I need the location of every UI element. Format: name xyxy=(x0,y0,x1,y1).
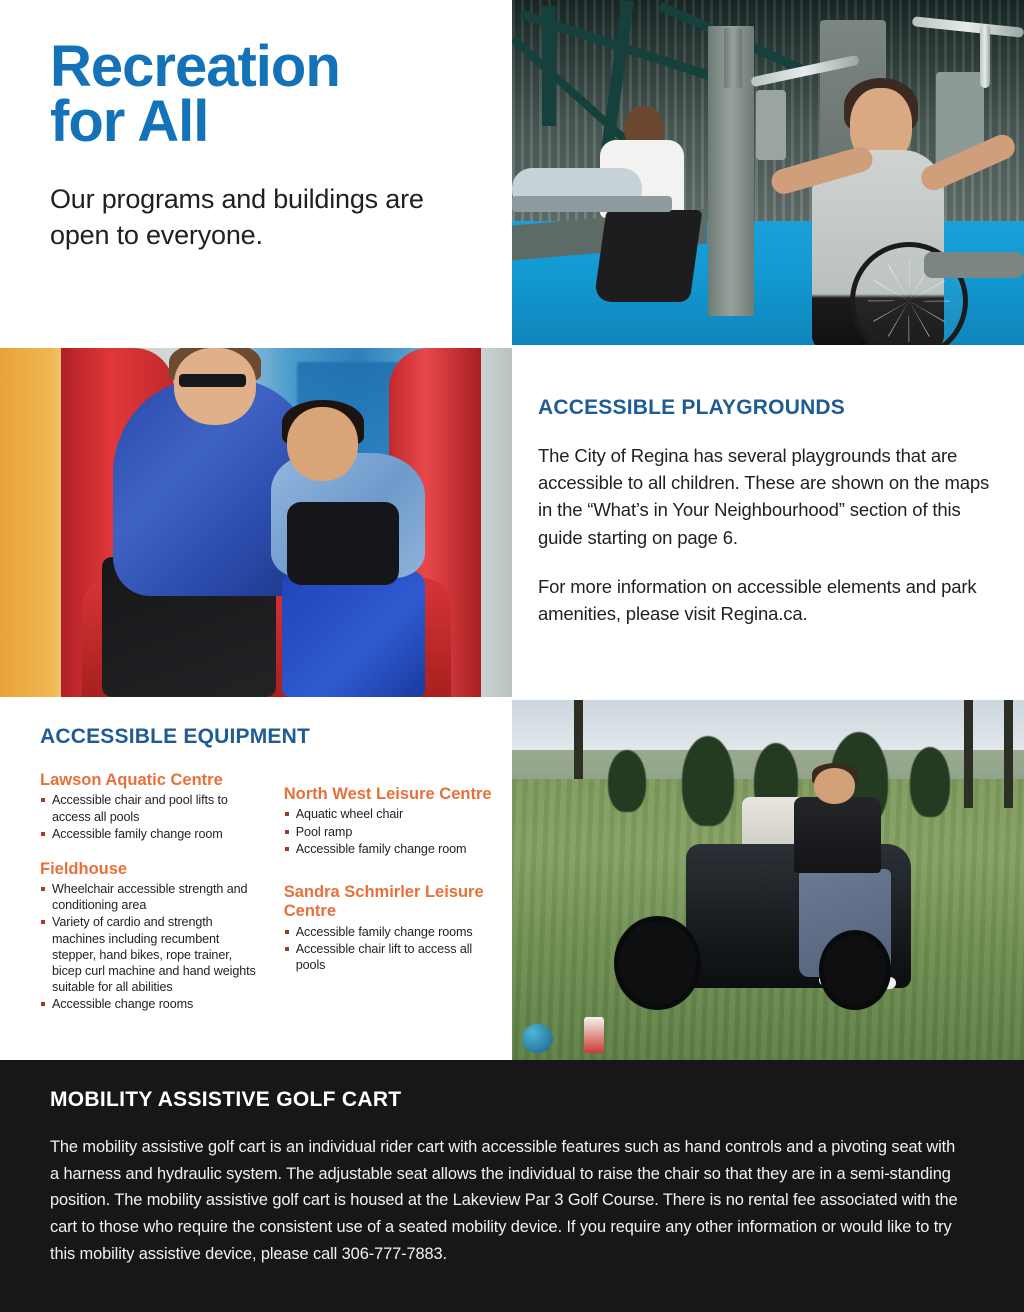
golf-photo-tree-4 xyxy=(910,747,950,817)
venue-group: Lawson Aquatic Centre Accessible chair a… xyxy=(40,771,262,842)
venue-name: Lawson Aquatic Centre xyxy=(40,771,262,790)
gym-photo-bench-seat xyxy=(924,252,1024,278)
golf-photo-rider-shirt xyxy=(794,797,881,873)
playground-photo-child-head xyxy=(287,407,359,480)
venue-name: Sandra Schmirler Leisure Centre xyxy=(284,883,494,922)
page-title: Recreation for All xyxy=(50,40,482,149)
list-item: Accessible family change room xyxy=(284,841,494,857)
golf-photo-marker xyxy=(584,1017,604,1053)
venue-feature-list: Wheelchair accessible strength and condi… xyxy=(40,881,262,1012)
venue-group: Sandra Schmirler Leisure Centre Accessib… xyxy=(284,883,494,973)
mobility-golf-cart-section: MOBILITY ASSISTIVE GOLF CART The mobilit… xyxy=(0,1060,1024,1312)
accessible-playgrounds-section: ACCESSIBLE PLAYGROUNDS The City of Regin… xyxy=(512,348,1024,698)
gym-photo-bench-b xyxy=(512,196,672,212)
golf-photo-fence-post-2 xyxy=(1004,700,1013,808)
golf-photo-cart-tyre-front xyxy=(614,916,701,1010)
gym-photo xyxy=(512,0,1024,345)
golf-photo-tree-1 xyxy=(682,736,734,826)
equipment-column-right: North West Leisure Centre Aquatic wheel … xyxy=(284,771,494,1013)
accessible-playgrounds-paragraph-2: For more information on accessible eleme… xyxy=(538,573,994,627)
golf-photo-fence-post-1 xyxy=(964,700,973,808)
golf-photo-tree-5 xyxy=(608,750,646,812)
gym-photo-truss-3 xyxy=(542,6,556,126)
page-title-line-2: for All xyxy=(50,95,482,150)
playground-photo-sunglasses xyxy=(179,374,246,387)
list-item: Accessible chair and pool lifts to acces… xyxy=(40,792,262,824)
gym-photo-plate-a xyxy=(756,90,786,160)
accessible-playgrounds-heading: ACCESSIBLE PLAYGROUNDS xyxy=(538,396,994,420)
list-item: Accessible chair lift to access all pool… xyxy=(284,941,494,973)
golf-photo-ball-blue xyxy=(522,1024,553,1053)
list-item: Wheelchair accessible strength and condi… xyxy=(40,881,262,913)
gym-photo-post-right xyxy=(980,24,990,88)
gym-photo-second-user-legs xyxy=(594,210,703,302)
list-item: Accessible family change room xyxy=(40,826,262,842)
gym-photo-machine-frame-b xyxy=(724,28,742,88)
hero-title-block: Recreation for All Our programs and buil… xyxy=(0,0,512,345)
list-item: Accessible family change rooms xyxy=(284,924,494,940)
hero-subtitle: Our programs and buildings are open to e… xyxy=(50,181,482,254)
playground-photo xyxy=(0,348,512,697)
venue-feature-list: Aquatic wheel chair Pool ramp Accessible… xyxy=(284,806,494,856)
page-root: Recreation for All Our programs and buil… xyxy=(0,0,1024,1312)
mobility-golf-cart-heading: MOBILITY ASSISTIVE GOLF CART xyxy=(50,1088,964,1112)
venue-name: North West Leisure Centre xyxy=(284,785,494,804)
golf-photo-fence-post-3 xyxy=(574,700,583,779)
mobility-golf-cart-paragraph: The mobility assistive golf cart is an i… xyxy=(50,1134,964,1268)
list-item: Aquatic wheel chair xyxy=(284,806,494,822)
playground-photo-child-torso xyxy=(287,502,400,586)
list-item: Pool ramp xyxy=(284,824,494,840)
accessible-equipment-section: ACCESSIBLE EQUIPMENT Lawson Aquatic Cent… xyxy=(0,700,512,1060)
playground-photo-child-pants xyxy=(282,571,425,697)
venue-name: Fieldhouse xyxy=(40,860,262,879)
venue-feature-list: Accessible chair and pool lifts to acces… xyxy=(40,792,262,841)
golf-photo-cart-tyre-rear xyxy=(819,930,891,1009)
venue-feature-list: Accessible family change rooms Accessibl… xyxy=(284,924,494,973)
accessible-equipment-columns: Lawson Aquatic Centre Accessible chair a… xyxy=(40,771,494,1013)
list-item: Accessible change rooms xyxy=(40,996,262,1012)
list-item: Variety of cardio and strength machines … xyxy=(40,914,262,995)
equipment-column-left: Lawson Aquatic Centre Accessible chair a… xyxy=(40,771,262,1013)
venue-group: North West Leisure Centre Aquatic wheel … xyxy=(284,785,494,857)
golf-photo-rider-head xyxy=(814,768,855,804)
golf-cart-photo xyxy=(512,700,1024,1060)
venue-group: Fieldhouse Wheelchair accessible strengt… xyxy=(40,860,262,1012)
accessible-playgrounds-paragraph-1: The City of Regina has several playgroun… xyxy=(538,442,994,551)
accessible-equipment-heading: ACCESSIBLE EQUIPMENT xyxy=(40,725,494,749)
